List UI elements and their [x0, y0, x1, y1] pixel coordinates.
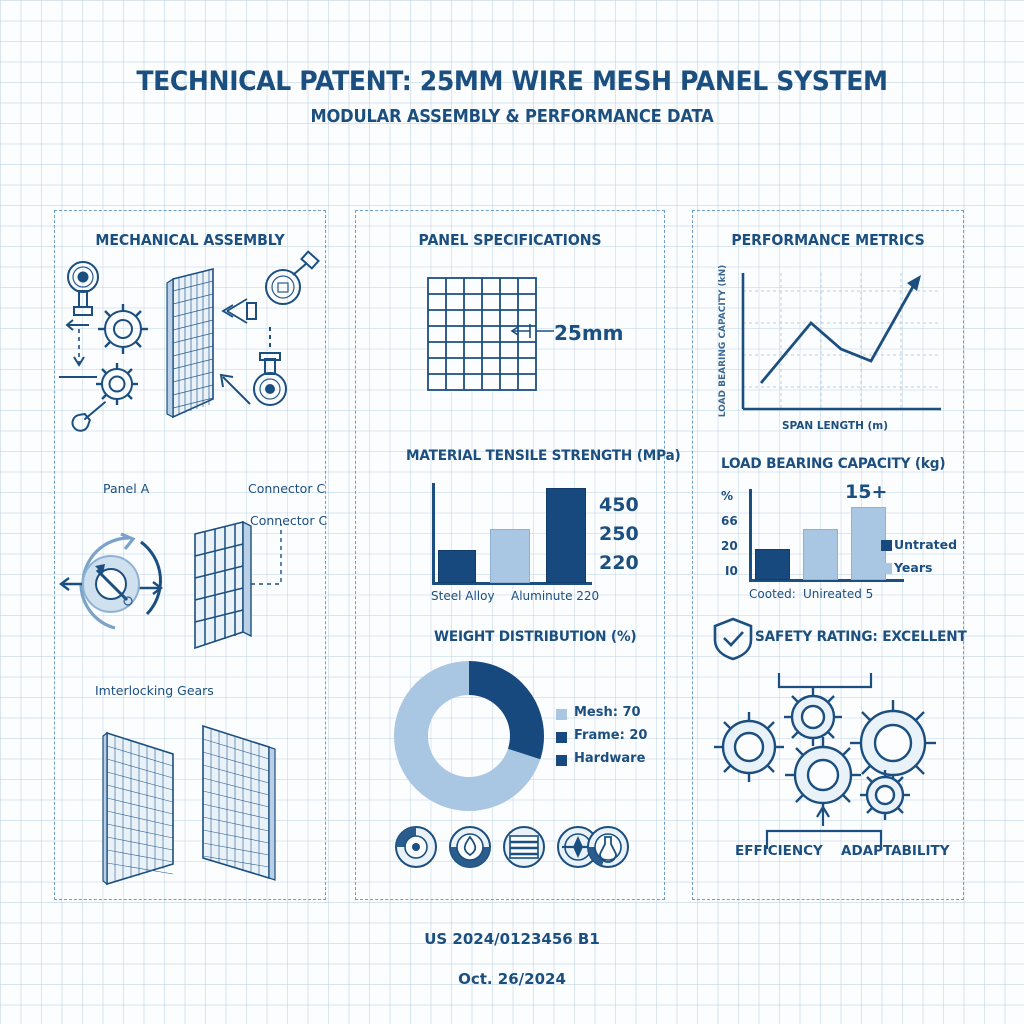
layers-badge-icon	[504, 827, 544, 867]
dual-mesh-panels-diagram	[55, 716, 327, 886]
mesh-panel-left	[103, 733, 173, 884]
tensile-y-axis	[432, 483, 435, 583]
load-category-coated: Cooted:	[749, 587, 796, 601]
hub-icon	[83, 556, 139, 612]
assembly-arrow-right	[221, 375, 250, 404]
bolt-cap-icon	[266, 252, 319, 304]
flask-badge-icon	[588, 827, 628, 867]
load-tick-66: 66	[721, 514, 738, 528]
gear-icon-top	[784, 688, 842, 746]
line-chart-series	[761, 283, 915, 383]
washer-bolt-icon	[68, 262, 98, 315]
tensile-category-steel: Steel Alloy	[431, 589, 495, 603]
panel-right-title: PERFORMANCE METRICS	[701, 231, 955, 249]
tensile-bar-aluminium	[490, 529, 530, 583]
legend-label-frame: Frame: 20	[574, 728, 647, 743]
line-chart-xlabel: SPAN LENGTH (m)	[782, 420, 888, 432]
tensile-category-aluminium: Aluminute 220	[511, 589, 599, 603]
gear-icon-small-bottom	[860, 770, 910, 820]
gear-bracket-top	[779, 673, 871, 687]
weight-donut-chart	[394, 661, 544, 811]
label-connector-c-top: Connector C	[248, 481, 325, 496]
load-tick-10: I0	[725, 564, 738, 578]
gear-label-efficiency: EFFICIENCY	[735, 843, 823, 859]
wrench-icon	[69, 396, 110, 434]
gear-icon-right-large	[850, 700, 936, 786]
mesh-panel-connector	[195, 522, 251, 648]
load-capacity-line-chart: LOAD BEARING CAPACITY (kN) SPAN LENGTH (…	[703, 261, 955, 441]
rotation-mechanism-diagram	[55, 506, 327, 666]
load-chart-title: LOAD BEARING CAPACITY (kg)	[721, 456, 945, 472]
load-legend-label-years: Years	[894, 560, 932, 575]
tensile-bar-steel	[438, 550, 476, 583]
panel-left-title: MECHANICAL ASSEMBLY	[63, 231, 317, 249]
gauge-badge-icon	[396, 827, 436, 867]
exploded-assembly-diagram	[55, 259, 327, 459]
load-legend-swatch-untreated	[881, 540, 892, 551]
gear-label-adaptability: ADAPTABILITY	[841, 843, 950, 859]
safety-rating-label: SAFETY RATING: EXCELLENT	[755, 629, 967, 645]
tensile-bar-composite	[546, 488, 586, 583]
weight-chart-title: WEIGHT DISTRIBUTION (%)	[434, 629, 636, 645]
panel-mechanical-assembly: MECHANICAL ASSEMBLY	[54, 210, 326, 900]
line-chart-ylabel: LOAD BEARING CAPACITY (kN)	[718, 265, 728, 418]
load-bar-untreated	[803, 529, 838, 580]
legend-label-mesh: Mesh: 70	[574, 705, 641, 720]
panel-performance-metrics: PERFORMANCE METRICS LOAD BEARING CAPACIT…	[692, 210, 964, 900]
panel-mid-title: PANEL SPECIFICATIONS	[365, 231, 655, 249]
load-y-axis	[749, 489, 752, 581]
line-chart-arrowhead	[907, 275, 921, 291]
legend-swatch-mesh	[556, 709, 567, 720]
assembly-arrow-left	[59, 320, 97, 377]
page-subtitle: MODULAR ASSEMBLY & PERFORMANCE DATA	[36, 107, 988, 127]
badge-icons-row	[394, 819, 630, 875]
tensile-value-450: 450	[599, 494, 639, 516]
footer: US 2024/0123456 B1 Oct. 26/2024	[0, 930, 1024, 988]
patent-date: Oct. 26/2024	[0, 970, 1024, 988]
infographic-page: TECHNICAL PATENT: 25MM WIRE MESH PANEL S…	[0, 0, 1024, 1024]
mesh-panel-3d	[167, 269, 213, 417]
label-interlocking-gears: Imterlocking Gears	[95, 683, 214, 698]
legend-swatch-frame	[556, 732, 567, 743]
load-tick-20: 20	[721, 539, 738, 553]
legend-label-hardware: Hardware	[574, 751, 645, 766]
load-legend-swatch-years	[881, 563, 892, 574]
panel-specifications: PANEL SPECIFICATIONS 25mm MATERIAL TENSI…	[355, 210, 665, 900]
load-annotation-15plus: 15+	[845, 481, 887, 503]
tensile-chart-title: MATERIAL TENSILE STRENGTH (MPa)	[406, 448, 681, 464]
gear-cluster-diagram	[701, 671, 957, 851]
page-title: TECHNICAL PATENT: 25MM WIRE MESH PANEL S…	[36, 66, 988, 97]
patent-number: US 2024/0123456 B1	[0, 930, 1024, 948]
shield-check-icon	[711, 616, 755, 662]
tensile-value-250: 250	[599, 523, 639, 545]
load-bar-coated	[755, 549, 790, 580]
mesh-dimension-label: 25mm	[554, 321, 624, 345]
assembly-arrow-cluster	[223, 299, 256, 323]
load-category-untreated: Unireated 5	[803, 587, 873, 601]
connector-leader-line	[251, 524, 281, 584]
gear-icon-lower	[96, 363, 138, 405]
legend-swatch-hardware	[556, 755, 567, 766]
gear-icon-upper	[98, 304, 148, 354]
gear-icon-center	[785, 737, 861, 813]
label-panel-a: Panel A	[103, 481, 149, 496]
header: TECHNICAL PATENT: 25MM WIRE MESH PANEL S…	[0, 66, 1024, 127]
load-tick-pct: %	[721, 489, 733, 503]
gear-icon-left	[714, 712, 784, 782]
load-legend-label-untreated: Untrated	[894, 537, 957, 552]
droplet-badge-icon	[450, 827, 490, 867]
tensile-value-220: 220	[599, 552, 639, 574]
mesh-panel-right	[203, 726, 275, 880]
washer-icon-lower	[254, 327, 286, 405]
